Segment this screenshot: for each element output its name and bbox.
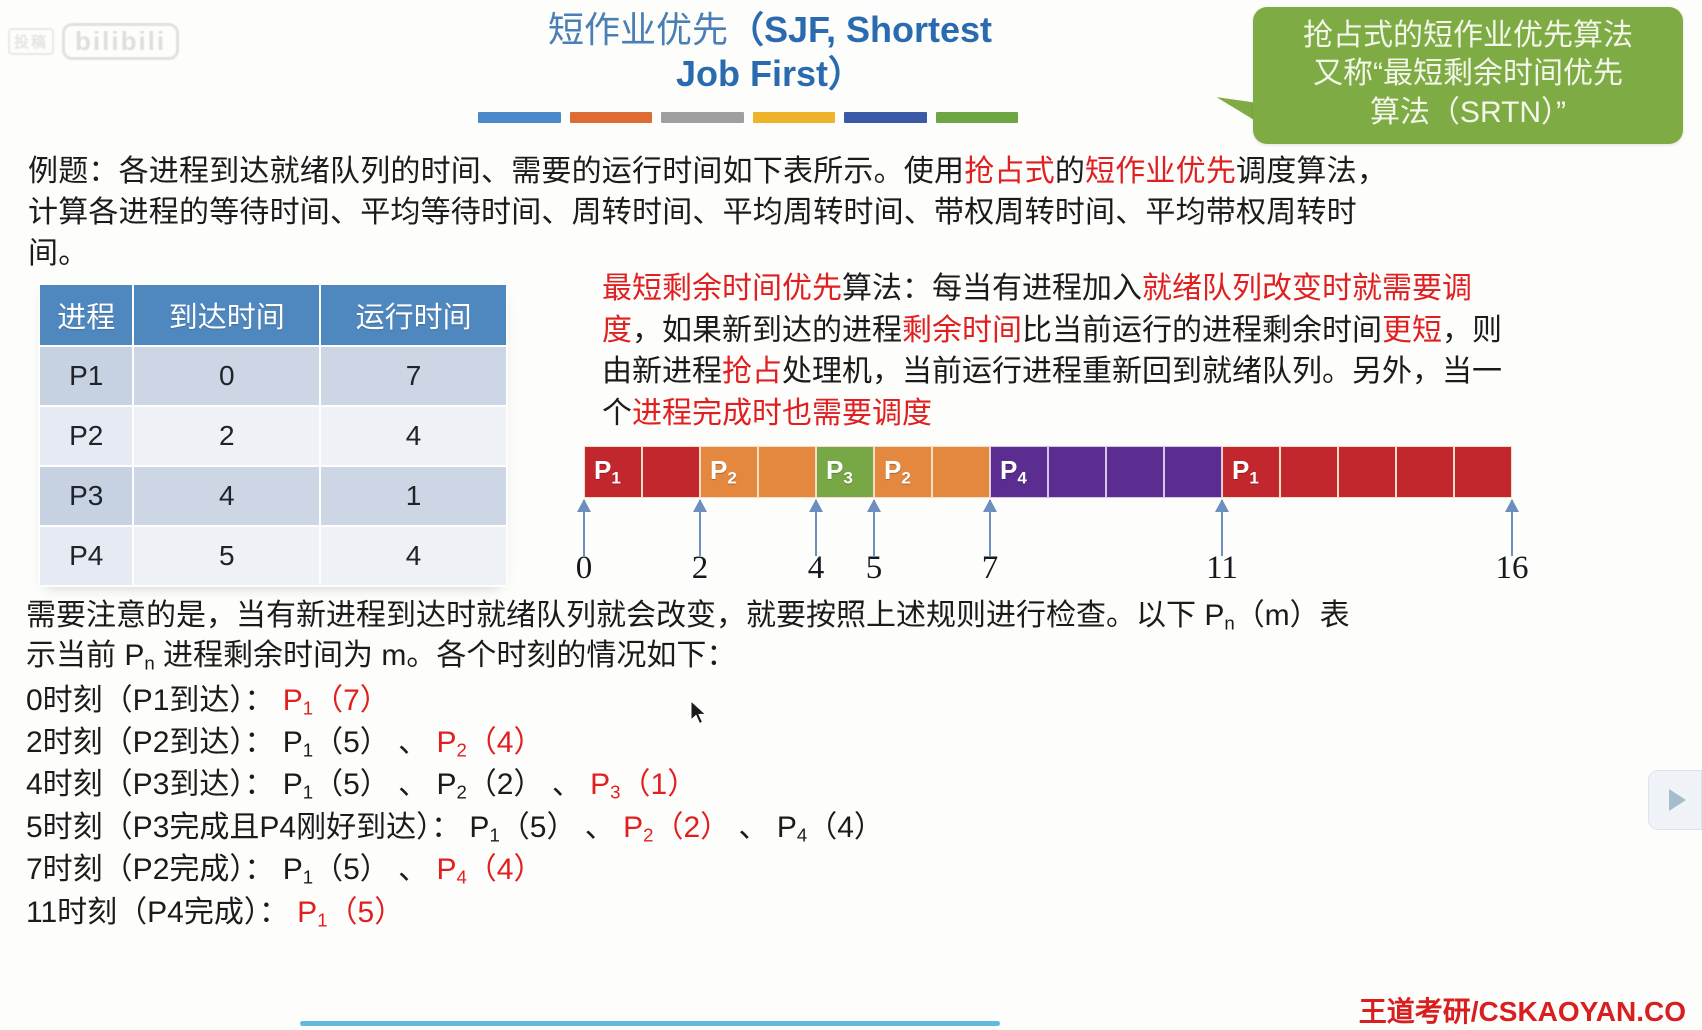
timeline-entry-label: 11时刻（P4完成）：	[26, 896, 297, 929]
timeline-process-state: P1（5）	[283, 768, 390, 801]
table-row: P454	[40, 527, 506, 585]
gantt-cell-t12	[1280, 446, 1338, 498]
gantt-tick-16	[1511, 500, 1513, 556]
timeline-entry-3: 4时刻（P3到达）： P1（5） 、 P2（2） 、 P3（1）	[26, 765, 1686, 805]
timeline-list: 0时刻（P1到达）： P1（7）2时刻（P2到达）： P1（5） 、 P2（4）…	[26, 681, 1686, 933]
timeline-process-state: P1（5）	[283, 726, 390, 759]
gantt-tick-0	[583, 500, 585, 556]
gantt-tick-label-4: 4	[808, 550, 825, 587]
table-col-header-1: 进程	[40, 285, 132, 345]
table-row: P107	[40, 347, 506, 405]
callout-line-3: 算法（SRTN）”	[1267, 94, 1669, 132]
gantt-segment-label: P3	[826, 455, 853, 488]
srtn-explanation: 最短剩余时间优先算法：每当有进程加入就绪队列改变时就需要调度，如果新到达的进程剩…	[602, 268, 1512, 435]
notes-p1a: 需要注意的是，当有新进程到达时就绪队列就会改变，就要按照上述规则进行检查。以下 …	[26, 599, 1224, 632]
gantt-cell-t13	[1338, 446, 1396, 498]
timeline-process-state: P1（5）	[469, 811, 576, 844]
gantt-cell-t2: P2	[700, 446, 758, 498]
timeline-process-state: P4（4）	[436, 853, 543, 886]
problem-red-2: 短作业优先	[1085, 155, 1236, 188]
explain-red-7: 进程完成时也需要调度	[632, 397, 932, 430]
title-color-bars	[478, 112, 1018, 123]
explain-red-5: 更短	[1382, 314, 1442, 347]
table-cell-r2-c2: 2	[134, 407, 319, 465]
timeline-process-state: P1（7）	[283, 684, 390, 717]
gantt-cell-t14	[1396, 446, 1454, 498]
gantt-tick-4	[815, 500, 817, 556]
gantt-chart: P1P2P3P2P4P1	[584, 446, 1512, 498]
table-row: P341	[40, 467, 506, 525]
title-bar-2	[570, 112, 653, 123]
watermark-badge: 投稿	[8, 28, 54, 55]
title-bar-1	[478, 112, 561, 123]
footer-brand: 王道考研/CSKAOYAN.CO	[1359, 990, 1686, 1030]
gantt-tick-7	[989, 500, 991, 556]
gantt-cell-t15	[1454, 446, 1512, 498]
problem-line-2: 计算各进程的等待时间、平均等待时间、周转时间、平均周转时间、带权周转时间、平均带…	[28, 196, 1357, 229]
table-cell-r1-c3: 7	[321, 347, 506, 405]
explain-t1: 算法：每当有进程加入	[842, 272, 1142, 305]
timeline-process-state: P2（2）	[623, 811, 730, 844]
timeline-separator: 、	[543, 768, 590, 801]
table-cell-r3-c1: P3	[40, 467, 132, 525]
timeline-entry-2: 2时刻（P2到达）： P1（5） 、 P2（4）	[26, 723, 1686, 763]
timeline-separator: 、	[390, 726, 437, 759]
gantt-segment-label: P2	[884, 455, 911, 488]
problem-red-1: 抢占式	[964, 155, 1055, 188]
srtn-callout: 抢占式的短作业优先算法 又称“最短剩余时间优先 算法（SRTN）”	[1253, 7, 1683, 144]
timeline-process-state: P1（5）	[297, 896, 404, 929]
gantt-tick-11	[1221, 500, 1223, 556]
table-row: P224	[40, 407, 506, 465]
timeline-separator: 、	[576, 811, 623, 844]
gantt-cell-t1	[642, 446, 700, 498]
table-cell-r1-c1: P1	[40, 347, 132, 405]
problem-seg-3: 调度算法，	[1236, 155, 1387, 188]
explain-red-4: 剩余时间	[902, 314, 1022, 347]
bilibili-watermark: 投稿 bilibili	[8, 14, 218, 69]
gantt-cell-t6	[932, 446, 990, 498]
gantt-cell-t7: P4	[990, 446, 1048, 498]
notes-paragraph: 需要注意的是，当有新进程到达时就绪队列就会改变，就要按照上述规则进行检查。以下 …	[26, 596, 1686, 677]
slide-page: 投稿 bilibili 短作业优先（SJF, Shortest Job Firs…	[0, 0, 1702, 1026]
notes-p2a: 示当前 P	[26, 639, 144, 672]
explain-red-6: 抢占	[722, 355, 782, 388]
explain-red-2: 就绪队列改变时就需	[1142, 272, 1412, 305]
title-bar-6	[936, 112, 1019, 123]
timeline-entry-label: 2时刻（P2到达）：	[26, 726, 283, 759]
page-title: 短作业优先（SJF, Shortest Job First）	[470, 8, 1070, 96]
timeline-process-state: P1（5）	[283, 853, 390, 886]
gantt-tick-label-11: 11	[1206, 550, 1238, 587]
explain-t4: 间	[1352, 314, 1382, 347]
timeline-entry-6: 11时刻（P4完成）： P1（5）	[26, 893, 1686, 933]
gantt-segment-label: P1	[1232, 455, 1259, 488]
timeline-entry-5: 7时刻（P2完成）： P1（5） 、 P4（4）	[26, 850, 1686, 890]
timeline-process-state: P3（1）	[590, 768, 697, 801]
timeline-separator: 、	[390, 853, 437, 886]
table-cell-r2-c3: 4	[321, 407, 506, 465]
timeline-notes: 需要注意的是，当有新进程到达时就绪队列就会改变，就要按照上述规则进行检查。以下 …	[26, 596, 1686, 933]
gantt-cell-t5: P2	[874, 446, 932, 498]
timeline-entry-label: 0时刻（P1到达）：	[26, 684, 283, 717]
timeline-separator: 、	[390, 768, 437, 801]
gantt-segment-label: P1	[594, 455, 621, 488]
table-cell-r4-c1: P4	[40, 527, 132, 585]
gantt-cell-t8	[1048, 446, 1106, 498]
timeline-entry-4: 5时刻（P3完成且P4刚好到达）： P1（5） 、 P2（2） 、 P4（4）	[26, 808, 1686, 848]
callout-line-1: 抢占式的短作业优先算法	[1267, 17, 1669, 55]
gantt-tick-2	[699, 500, 701, 556]
table-cell-r4-c3: 4	[321, 527, 506, 585]
video-progress-bar[interactable]	[300, 1021, 1000, 1026]
gantt-cell-t11: P1	[1222, 446, 1280, 498]
title-line-1: 短作业优先（SJF, Shortest	[470, 8, 1070, 52]
title-bar-4	[753, 112, 836, 123]
gantt-cell-t0: P1	[584, 446, 642, 498]
title-en-1: （SJF, Shortest	[728, 9, 992, 50]
timeline-process-state: P2（2）	[436, 768, 543, 801]
gantt-tick-label-0: 0	[576, 550, 593, 587]
timeline-separator: 、	[730, 811, 777, 844]
table-header-row: 进程到达时间运行时间	[40, 285, 506, 345]
callout-tail	[1214, 97, 1258, 121]
table-cell-r1-c2: 0	[134, 347, 319, 405]
timeline-entry-label: 5时刻（P3完成且P4刚好到达）：	[26, 811, 469, 844]
gantt-cell-t10	[1164, 446, 1222, 498]
problem-statement: 例题：各进程到达就绪队列的时间、需要的运行时间如下表所示。使用抢占式的短作业优先…	[28, 152, 1678, 274]
play-icon	[1669, 789, 1686, 811]
table-cell-r3-c2: 4	[134, 467, 319, 525]
gantt-cell-t4: P3	[816, 446, 874, 498]
gantt-tick-label-16: 16	[1496, 550, 1529, 587]
notes-p2sub: n	[144, 653, 154, 674]
problem-seg-2: 的	[1055, 155, 1085, 188]
explain-t3: 比当前运行的进程剩余时	[1022, 314, 1352, 347]
table-cell-r3-c3: 1	[321, 467, 506, 525]
explain-t6: 处理机，当前运行进程重新回到就绪	[782, 355, 1262, 388]
process-table: 进程到达时间运行时间 P107P224P341P454	[38, 283, 508, 587]
gantt-cell-t3	[758, 446, 816, 498]
gantt-tick-label-2: 2	[692, 550, 709, 587]
gantt-segment-label: P2	[710, 455, 737, 488]
timeline-entry-label: 4时刻（P3到达）：	[26, 768, 283, 801]
title-bar-5	[844, 112, 927, 123]
notes-p1b: （m）表	[1235, 599, 1350, 632]
gantt-tick-labels: 024571116	[584, 550, 1512, 592]
gantt-tick-label-7: 7	[982, 550, 999, 587]
table-col-header-2: 到达时间	[134, 285, 319, 345]
gantt-cell-t9	[1106, 446, 1164, 498]
table-cell-r2-c1: P2	[40, 407, 132, 465]
timeline-process-state: P4（4）	[777, 811, 884, 844]
callout-line-2: 又称“最短剩余时间优先	[1267, 55, 1669, 93]
notes-p2b: 进程剩余时间为 m。各个时刻的情况如下：	[155, 639, 737, 672]
table-cell-r4-c2: 5	[134, 527, 319, 585]
problem-seg-1: 例题：各进程到达就绪队列的时间、需要的运行时间如下表所示。使用	[28, 155, 964, 188]
gantt-tick-5	[873, 500, 875, 556]
gantt-tick-arrows	[584, 498, 1512, 556]
explain-t2: ，如果新到达的进程	[632, 314, 902, 347]
title-line-2: Job First）	[470, 52, 1070, 96]
timeline-entry-1: 0时刻（P1到达）： P1（7）	[26, 681, 1686, 721]
table-col-header-3: 运行时间	[321, 285, 506, 345]
problem-line-3: 间。	[28, 237, 88, 270]
gantt-segment-label: P4	[1000, 455, 1027, 488]
video-play-chip[interactable]	[1648, 770, 1702, 830]
timeline-entry-label: 7时刻（P2完成）：	[26, 853, 283, 886]
title-bar-3	[661, 112, 744, 123]
watermark-logo: bilibili	[62, 23, 179, 60]
notes-p1sub: n	[1224, 613, 1234, 634]
explain-red-1: 最短剩余时间优先	[602, 272, 842, 305]
title-cn: 短作业优先	[548, 9, 728, 50]
timeline-process-state: P2（4）	[436, 726, 543, 759]
gantt-tick-label-5: 5	[866, 550, 883, 587]
